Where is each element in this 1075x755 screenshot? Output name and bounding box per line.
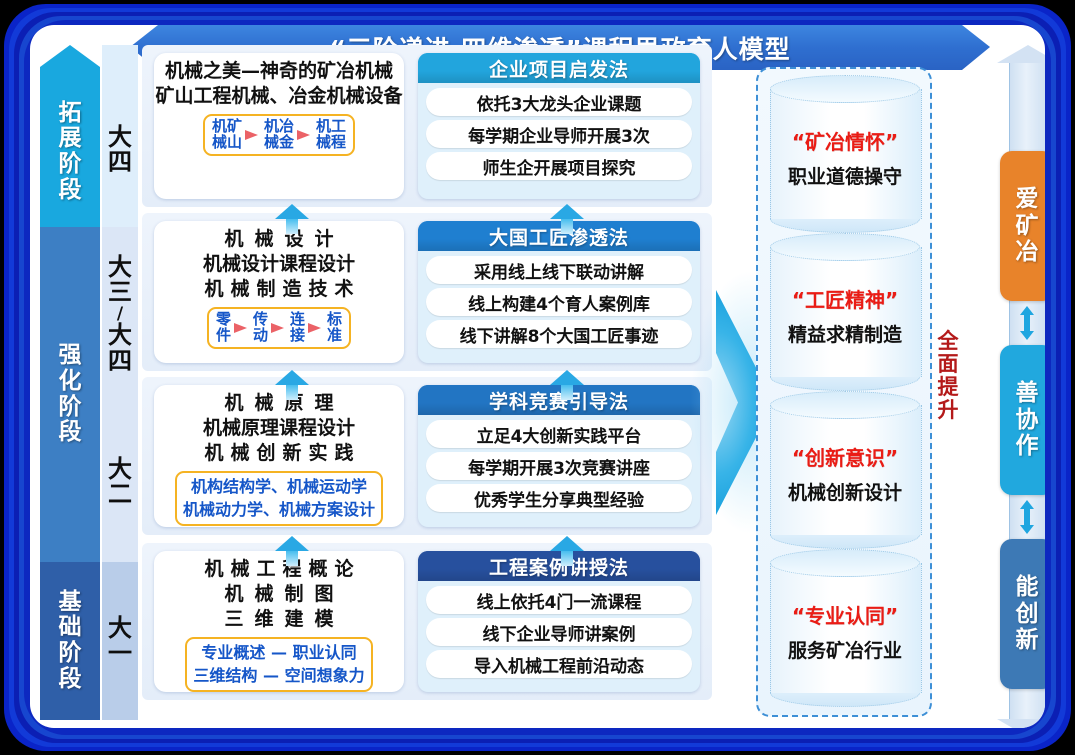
chip-row: 械金 bbox=[264, 135, 294, 151]
method-bullet[interactable]: 师生企开展项目探究 bbox=[426, 152, 692, 180]
goal-box-3[interactable]: 能创新 bbox=[1000, 539, 1045, 689]
arrow-down-head bbox=[1020, 331, 1034, 340]
grade-label-1: 大四 bbox=[102, 45, 138, 241]
lane-connector-up-arrow-icon bbox=[550, 370, 584, 400]
course-chip-line: 专业概述 — 职业认同 bbox=[193, 641, 364, 664]
cylinder-subtext: 精益求精制造 bbox=[788, 320, 902, 347]
cylinder-keyword: “工匠精神” bbox=[792, 284, 898, 313]
method-panel-3[interactable]: 学科竞赛引导法立足4大创新实践平台每学期开展3次竞赛讲座优秀学生分享典型经验 bbox=[418, 385, 700, 527]
grade-char: 大 bbox=[108, 323, 132, 348]
course-chip: 传动 bbox=[253, 312, 268, 344]
course-chip: 机矿械山 bbox=[212, 119, 242, 151]
grade-char: 三 bbox=[108, 280, 132, 305]
cylinder-text: “专业认同”服务矿冶行业 bbox=[770, 583, 920, 679]
method-bullet-list: 线上依托4门一流课程线下企业导师讲案例导入机械工程前沿动态 bbox=[418, 581, 700, 682]
grade-char: 四 bbox=[108, 150, 132, 175]
course-box-2[interactable]: 机械设计机械设计课程设计机械制造技术零件传动连接标准 bbox=[154, 221, 404, 363]
method-bullet[interactable]: 每学期企业导师开展3次 bbox=[426, 120, 692, 148]
goal-char: 冶 bbox=[1016, 239, 1039, 265]
method-bullet-list: 立足4大创新实践平台每学期开展3次竞赛讲座优秀学生分享典型经验 bbox=[418, 415, 700, 516]
method-bullet[interactable]: 依托3大龙头企业课题 bbox=[426, 88, 692, 116]
diagram-canvas: “三阶递进·四维渗透”课程思政育人模型 拓展阶段强化阶段基础阶段 大四大三/大四… bbox=[0, 0, 1075, 755]
course-chip: 机冶械金 bbox=[264, 119, 294, 151]
promote-label: 全面提升 bbox=[936, 330, 960, 422]
promote-char: 面 bbox=[938, 353, 959, 376]
course-line: 矿山工程机械、冶金机械设备 bbox=[155, 84, 402, 109]
value-cylinder-3[interactable]: “创新意识”机械创新设计 bbox=[770, 391, 920, 549]
cylinder-subtext: 机械创新设计 bbox=[788, 478, 902, 505]
stage-char: 段 bbox=[59, 178, 82, 204]
diagram-inner-card: “三阶递进·四维渗透”课程思政育人模型 拓展阶段强化阶段基础阶段 大四大三/大四… bbox=[30, 25, 1045, 728]
method-panel-1[interactable]: 企业项目启发法依托3大龙头企业课题每学期企业导师开展3次师生企开展项目探究 bbox=[418, 53, 700, 199]
method-bullet-list: 采用线上线下联动讲解线上构建4个育人案例库线下讲解8个大国工匠事迹 bbox=[418, 251, 700, 352]
content-lane-3: 机械原理机械原理课程设计机械创新实践机构结构学、机械运动学机械动力学、机械方案设… bbox=[142, 377, 712, 535]
cylinder-keyword: “专业认同” bbox=[792, 600, 898, 629]
course-line: 机械原理课程设计 bbox=[203, 416, 355, 441]
method-bullet[interactable]: 导入机械工程前沿动态 bbox=[426, 650, 692, 678]
stage-char: 阶 bbox=[59, 641, 82, 667]
cylinder-keyword: “矿冶情怀” bbox=[792, 126, 898, 155]
chip-arrow-icon bbox=[307, 320, 325, 336]
method-bullet[interactable]: 线上构建4个育人案例库 bbox=[426, 288, 692, 316]
grade-char: 大 bbox=[108, 125, 132, 150]
method-bullet-list: 依托3大龙头企业课题每学期企业导师开展3次师生企开展项目探究 bbox=[418, 83, 700, 184]
goal-char: 爱 bbox=[1016, 186, 1039, 212]
method-panel-4[interactable]: 工程案例讲授法线上依托4门一流课程线下企业导师讲案例导入机械工程前沿动态 bbox=[418, 551, 700, 692]
course-chip: 连接 bbox=[290, 312, 305, 344]
arrow-up-head bbox=[1020, 500, 1034, 509]
chip-row: 械山 bbox=[212, 135, 242, 151]
arrow-up-head bbox=[1020, 306, 1034, 315]
cylinder-text: “工匠精神”精益求精制造 bbox=[770, 267, 920, 363]
stage-char: 阶 bbox=[59, 395, 82, 421]
content-lane-1: 机械之美—神奇的矿冶机械矿山工程机械、冶金机械设备机矿械山机冶械金机工械程企业项… bbox=[142, 45, 712, 207]
method-bullet[interactable]: 线下企业导师讲案例 bbox=[426, 618, 692, 646]
grade-char: 大 bbox=[108, 255, 132, 280]
course-chip: 标准 bbox=[327, 312, 342, 344]
goal-char: 作 bbox=[1016, 433, 1039, 459]
method-title: 企业项目启发法 bbox=[418, 53, 700, 83]
goal-char: 协 bbox=[1016, 407, 1039, 433]
grade-label-2: 大三/大四 bbox=[102, 227, 138, 402]
chip-row: 械程 bbox=[316, 135, 346, 151]
value-cylinder-column: “矿冶情怀”职业道德操守“工匠精神”精益求精制造“创新意识”机械创新设计“专业认… bbox=[756, 67, 932, 717]
lane-connector-up-arrow-icon bbox=[275, 204, 309, 234]
chip-arrow-icon bbox=[270, 320, 288, 336]
method-panel-2[interactable]: 大国工匠渗透法采用线上线下联动讲解线上构建4个育人案例库线下讲解8个大国工匠事迹 bbox=[418, 221, 700, 363]
cylinder-text: “创新意识”机械创新设计 bbox=[770, 425, 920, 521]
goal-double-arrow-icon bbox=[1020, 306, 1034, 340]
goal-box-1[interactable]: 爱矿冶 bbox=[1000, 151, 1045, 301]
course-line: 机械创新实践 bbox=[197, 441, 360, 466]
lane-connector-up-arrow-icon bbox=[275, 370, 309, 400]
stage-char: 基 bbox=[59, 590, 82, 616]
goal-double-arrow-icon bbox=[1020, 500, 1034, 534]
stage-char: 化 bbox=[59, 369, 82, 395]
stage-char: 段 bbox=[59, 420, 82, 446]
course-chip-line: 三维结构 — 空间想象力 bbox=[193, 664, 364, 687]
lane-connector-up-arrow-icon bbox=[275, 536, 309, 566]
cylinder-top bbox=[770, 233, 920, 261]
course-line: 三维建模 bbox=[213, 607, 344, 632]
method-bullet[interactable]: 立足4大创新实践平台 bbox=[426, 420, 692, 448]
value-cylinder-4[interactable]: “专业认同”服务矿冶行业 bbox=[770, 549, 920, 707]
course-chip: 零件 bbox=[216, 312, 231, 344]
course-chip-line: 机械动力学、机械方案设计 bbox=[183, 498, 375, 521]
course-line: 机械之美—神奇的矿冶机械 bbox=[165, 59, 393, 84]
course-chip-textbox: 专业概述 — 职业认同三维结构 — 空间想象力 bbox=[185, 637, 372, 691]
chip-row: 动 bbox=[253, 328, 268, 344]
chip-row: 接 bbox=[290, 328, 305, 344]
course-chip-strip: 机矿械山机冶械金机工械程 bbox=[203, 114, 355, 156]
chip-arrow-icon bbox=[233, 320, 251, 336]
method-bullet[interactable]: 采用线上线下联动讲解 bbox=[426, 256, 692, 284]
content-lane-2: 机械设计机械设计课程设计机械制造技术零件传动连接标准大国工匠渗透法采用线上线下联… bbox=[142, 213, 712, 371]
promote-char: 全 bbox=[938, 330, 959, 353]
goal-box-2[interactable]: 善协作 bbox=[1000, 345, 1045, 495]
stage-char: 础 bbox=[59, 615, 82, 641]
grade-char: 四 bbox=[108, 349, 132, 374]
stage-char: 展 bbox=[59, 126, 82, 152]
chip-arrow-icon bbox=[244, 127, 262, 143]
goal-char: 能 bbox=[1016, 574, 1039, 600]
lane-connector-up-arrow-icon bbox=[550, 204, 584, 234]
course-box-3[interactable]: 机械原理机械原理课程设计机械创新实践机构结构学、机械运动学机械动力学、机械方案设… bbox=[154, 385, 404, 527]
goal-char: 善 bbox=[1016, 380, 1039, 406]
course-chip-line: 机构结构学、机械运动学 bbox=[183, 475, 375, 498]
course-chip-strip: 零件传动连接标准 bbox=[207, 307, 351, 349]
arrow-down-head bbox=[1020, 525, 1034, 534]
cylinder-subtext: 服务矿冶行业 bbox=[788, 636, 902, 663]
goal-char: 创 bbox=[1016, 601, 1039, 627]
lane-connector-up-arrow-icon bbox=[550, 536, 584, 566]
cylinder-text: “矿冶情怀”职业道德操守 bbox=[770, 109, 920, 205]
course-line: 机械设计课程设计 bbox=[203, 252, 355, 277]
goal-column: 爱矿冶善协作能创新 bbox=[996, 55, 1045, 727]
grade-char: 大 bbox=[108, 457, 132, 482]
cylinder-subtext: 职业道德操守 bbox=[788, 162, 902, 189]
course-box-1[interactable]: 机械之美—神奇的矿冶机械矿山工程机械、冶金机械设备机矿械山机冶械金机工械程 bbox=[154, 53, 404, 199]
stage-char: 拓 bbox=[59, 101, 82, 127]
grade-label-4: 大一 bbox=[102, 562, 138, 720]
chip-row: 准 bbox=[327, 328, 342, 344]
method-bullet[interactable]: 线上依托4门一流课程 bbox=[426, 586, 692, 614]
value-cylinder-1[interactable]: “矿冶情怀”职业道德操守 bbox=[770, 75, 920, 233]
goal-char: 新 bbox=[1016, 627, 1039, 653]
stage-band-1: 拓展阶段 bbox=[40, 45, 100, 243]
promote-char: 升 bbox=[938, 399, 959, 422]
method-bullet[interactable]: 每学期开展3次竞赛讲座 bbox=[426, 452, 692, 480]
cylinder-top bbox=[770, 549, 920, 577]
stage-band-2: 强化阶段 bbox=[40, 227, 100, 562]
goal-char: 矿 bbox=[1016, 213, 1039, 239]
grade-char: 一 bbox=[108, 641, 132, 666]
stage-band-3: 基础阶段 bbox=[40, 562, 100, 720]
chip-arrow-icon bbox=[296, 127, 314, 143]
course-box-4[interactable]: 机械工程概论机械制图三维建模专业概述 — 职业认同三维结构 — 空间想象力 bbox=[154, 551, 404, 692]
course-chip: 机工械程 bbox=[316, 119, 346, 151]
stage-char: 段 bbox=[59, 667, 82, 693]
method-bullet[interactable]: 优秀学生分享典型经验 bbox=[426, 484, 692, 512]
content-lane-4: 机械工程概论机械制图三维建模专业概述 — 职业认同三维结构 — 空间想象力工程案… bbox=[142, 543, 712, 700]
course-line: 机械制图 bbox=[213, 582, 344, 607]
method-bullet[interactable]: 线下讲解8个大国工匠事迹 bbox=[426, 320, 692, 348]
cylinder-top bbox=[770, 75, 920, 103]
promote-char: 提 bbox=[938, 376, 959, 399]
grade-label-3: 大二 bbox=[102, 402, 138, 562]
cylinder-top bbox=[770, 391, 920, 419]
cylinder-keyword: “创新意识” bbox=[792, 442, 898, 471]
grade-char: 大 bbox=[108, 616, 132, 641]
course-chip-textbox: 机构结构学、机械运动学机械动力学、机械方案设计 bbox=[175, 471, 383, 525]
stage-column: 拓展阶段强化阶段基础阶段 bbox=[40, 45, 100, 720]
chip-row: 件 bbox=[216, 328, 231, 344]
grade-char: 二 bbox=[108, 482, 132, 507]
stage-char: 阶 bbox=[59, 152, 82, 178]
value-cylinder-2[interactable]: “工匠精神”精益求精制造 bbox=[770, 233, 920, 391]
course-line: 机械制造技术 bbox=[197, 277, 360, 302]
grade-column: 大四大三/大四大二大一 bbox=[102, 45, 138, 720]
stage-char: 强 bbox=[59, 343, 82, 369]
